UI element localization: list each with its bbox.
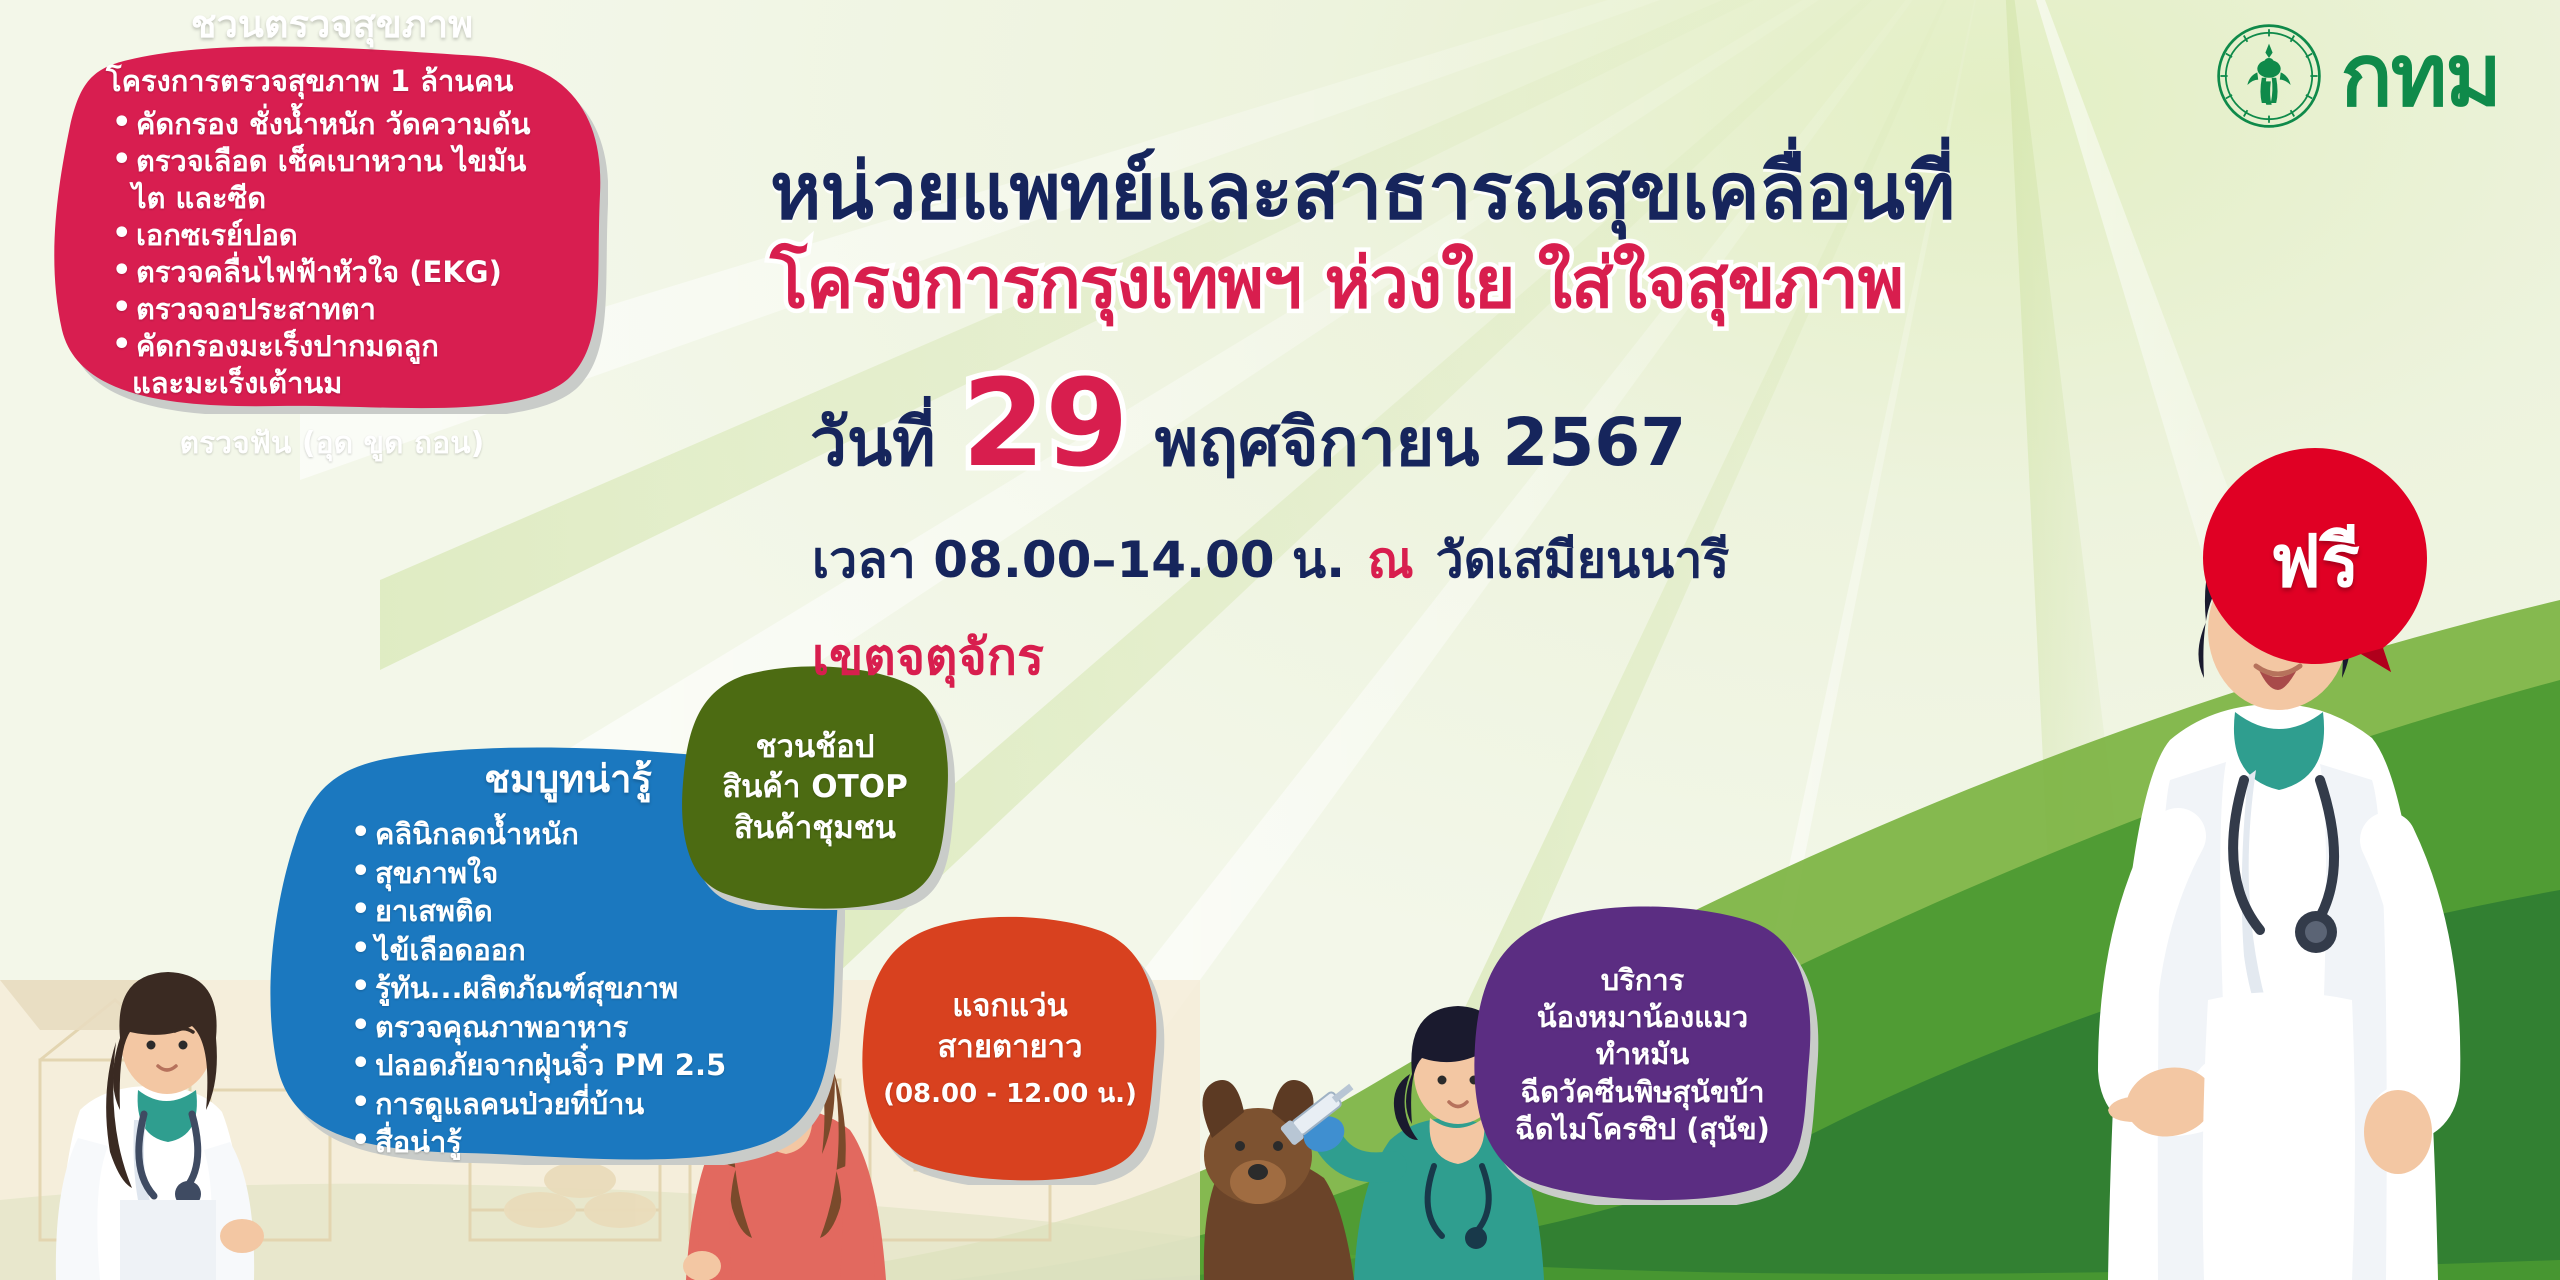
badge-glasses-time: (08.00 - 12.00 น.) <box>869 1073 1151 1114</box>
list-item: ตรวจคลื่นไฟฟ้าหัวใจ (EKG) <box>106 254 582 291</box>
event-date-row: วันที่ 29 พฤศจิกายน 2567 <box>770 371 2220 495</box>
badge-vet-line-2: น้องหมาน้องแมว <box>1481 999 1804 1036</box>
badge-health-title: ชวนตรวจสุขภาพ <box>82 0 582 54</box>
badge-vet-line-3: ทำหมัน <box>1481 1036 1804 1073</box>
list-item: การดูแลคนป่วยที่บ้าน <box>345 1085 821 1124</box>
date-label: วันที่ <box>810 390 936 495</box>
date-number: 29 <box>962 371 1129 479</box>
badge-otop-shopping: ชวนช้อป สินค้า OTOP สินค้าชุมชน <box>675 665 955 910</box>
badge-health-cont-2: และมะเร็งเต้านม <box>132 365 582 402</box>
list-item: เอกซเรย์ปอด <box>106 217 582 254</box>
list-item: ตรวจคุณภาพอาหาร <box>345 1008 821 1047</box>
badge-health-cont-1: ไต และซีด <box>132 180 582 217</box>
badge-eyeglasses: แจกแว่น สายตายาว (08.00 - 12.00 น.) <box>855 915 1165 1185</box>
badge-otop-line-3: สินค้าชุมชน <box>693 808 937 848</box>
poster-canvas: กทม หน่วยแพทย์และสาธารณสุขเคลื่อนที่ โคร… <box>0 0 2560 1280</box>
event-district: เขตจตุจักร <box>770 618 2220 697</box>
badge-glasses-line-1: แจกแว่น <box>869 986 1151 1026</box>
list-item: คัดกรองมะเร็งปากมดลูก <box>106 328 582 365</box>
badge-otop-line-1: ชวนช้อป <box>693 727 937 767</box>
badge-otop-line-2: สินค้า OTOP <box>693 767 937 807</box>
at-label: ณ <box>1367 521 1413 600</box>
free-label: ฟรี <box>2195 440 2435 680</box>
list-item: ตรวจเลือด เช็คเบาหวาน ไขมัน <box>106 143 582 180</box>
badge-vet-line-4: ฉีดวัคซีนพิษสุนัขบ้า <box>1481 1074 1804 1111</box>
badge-glasses-line-2: สายตายาว <box>869 1027 1151 1067</box>
badge-vet-line-5: ฉีดไมโครชิป (สุนัข) <box>1481 1111 1804 1148</box>
list-item: ตรวจจอประสาทตา <box>106 291 582 328</box>
badge-health-footer: ตรวจฟัน (อุด ขูด ถอน) <box>82 420 582 467</box>
list-item: สื่อน่ารู้ <box>345 1123 821 1162</box>
list-item: รู้ทัน...ผลิตภัณฑ์สุขภาพ <box>345 969 821 1008</box>
badge-health-list-2: เอกซเรย์ปอด ตรวจคลื่นไฟฟ้าหัวใจ (EKG) ตร… <box>82 217 582 365</box>
badge-health-subtitle: โครงการตรวจสุขภาพ 1 ล้านคน <box>82 58 582 104</box>
bma-logo: กทม <box>2215 22 2500 130</box>
list-item: คัดกรอง ชั่งน้ำหนัก วัดความดัน <box>106 106 582 143</box>
event-time: เวลา 08.00–14.00 น. <box>812 521 1345 600</box>
page-subtitle: โครงการกรุงเทพฯ ห่วงใย ใส่ใจสุขภาพ <box>770 244 2220 322</box>
page-title: หน่วยแพทย์และสาธารณสุขเคลื่อนที่ <box>770 150 2220 234</box>
event-venue: วัดเสมียนนารี <box>1436 521 1730 600</box>
event-time-row: เวลา 08.00–14.00 น. ณ วัดเสมียนนารี <box>770 521 2220 600</box>
list-item: ไข้เลือดออก <box>345 931 821 970</box>
badge-health-list: คัดกรอง ชั่งน้ำหนัก วัดความดัน ตรวจเลือด… <box>82 106 582 180</box>
logo-abbrev: กทม <box>2341 33 2500 119</box>
list-item: ปลอดภัยจากฝุ่นจิ๋ว PM 2.5 <box>345 1046 821 1085</box>
headline-block: หน่วยแพทย์และสาธารณสุขเคลื่อนที่ โครงการ… <box>770 150 2220 697</box>
date-month-year: พฤศจิกายน 2567 <box>1155 390 1687 495</box>
badge-vet-line-1: บริการ <box>1481 962 1804 999</box>
free-sticker: ฟรี <box>2195 440 2435 680</box>
bma-seal-icon <box>2215 22 2323 130</box>
badge-health-screening: ชวนตรวจสุขภาพ โครงการตรวจสุขภาพ 1 ล้านคน… <box>48 44 608 414</box>
badge-veterinary: บริการ น้องหมาน้องแมว ทำหมัน ฉีดวัคซีนพิ… <box>1465 905 1820 1205</box>
